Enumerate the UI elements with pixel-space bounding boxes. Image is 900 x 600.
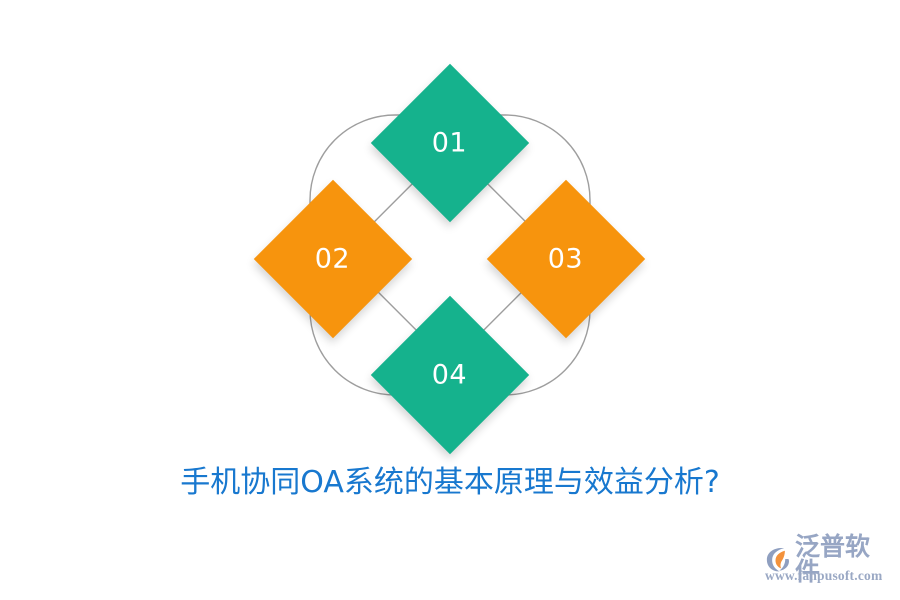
watermark-url: www.fanpusoft.com xyxy=(765,568,882,584)
diagram-node-01-label: 01 xyxy=(432,129,467,156)
diagram-node-03-label: 03 xyxy=(548,245,583,272)
page-canvas: 01 02 03 04 手机协同OA系统的基本原理与效益分析? 泛普 xyxy=(0,0,900,600)
page-title: 手机协同OA系统的基本原理与效益分析? xyxy=(0,457,900,501)
diagram-node-02-label: 02 xyxy=(315,245,350,272)
watermark-logo: 泛普软件 www.fanpusoft.com xyxy=(762,534,894,588)
diagram-node-04-label: 04 xyxy=(432,361,467,388)
four-node-diagram: 01 02 03 04 xyxy=(255,70,645,440)
logo-swoosh-shape xyxy=(776,551,785,569)
